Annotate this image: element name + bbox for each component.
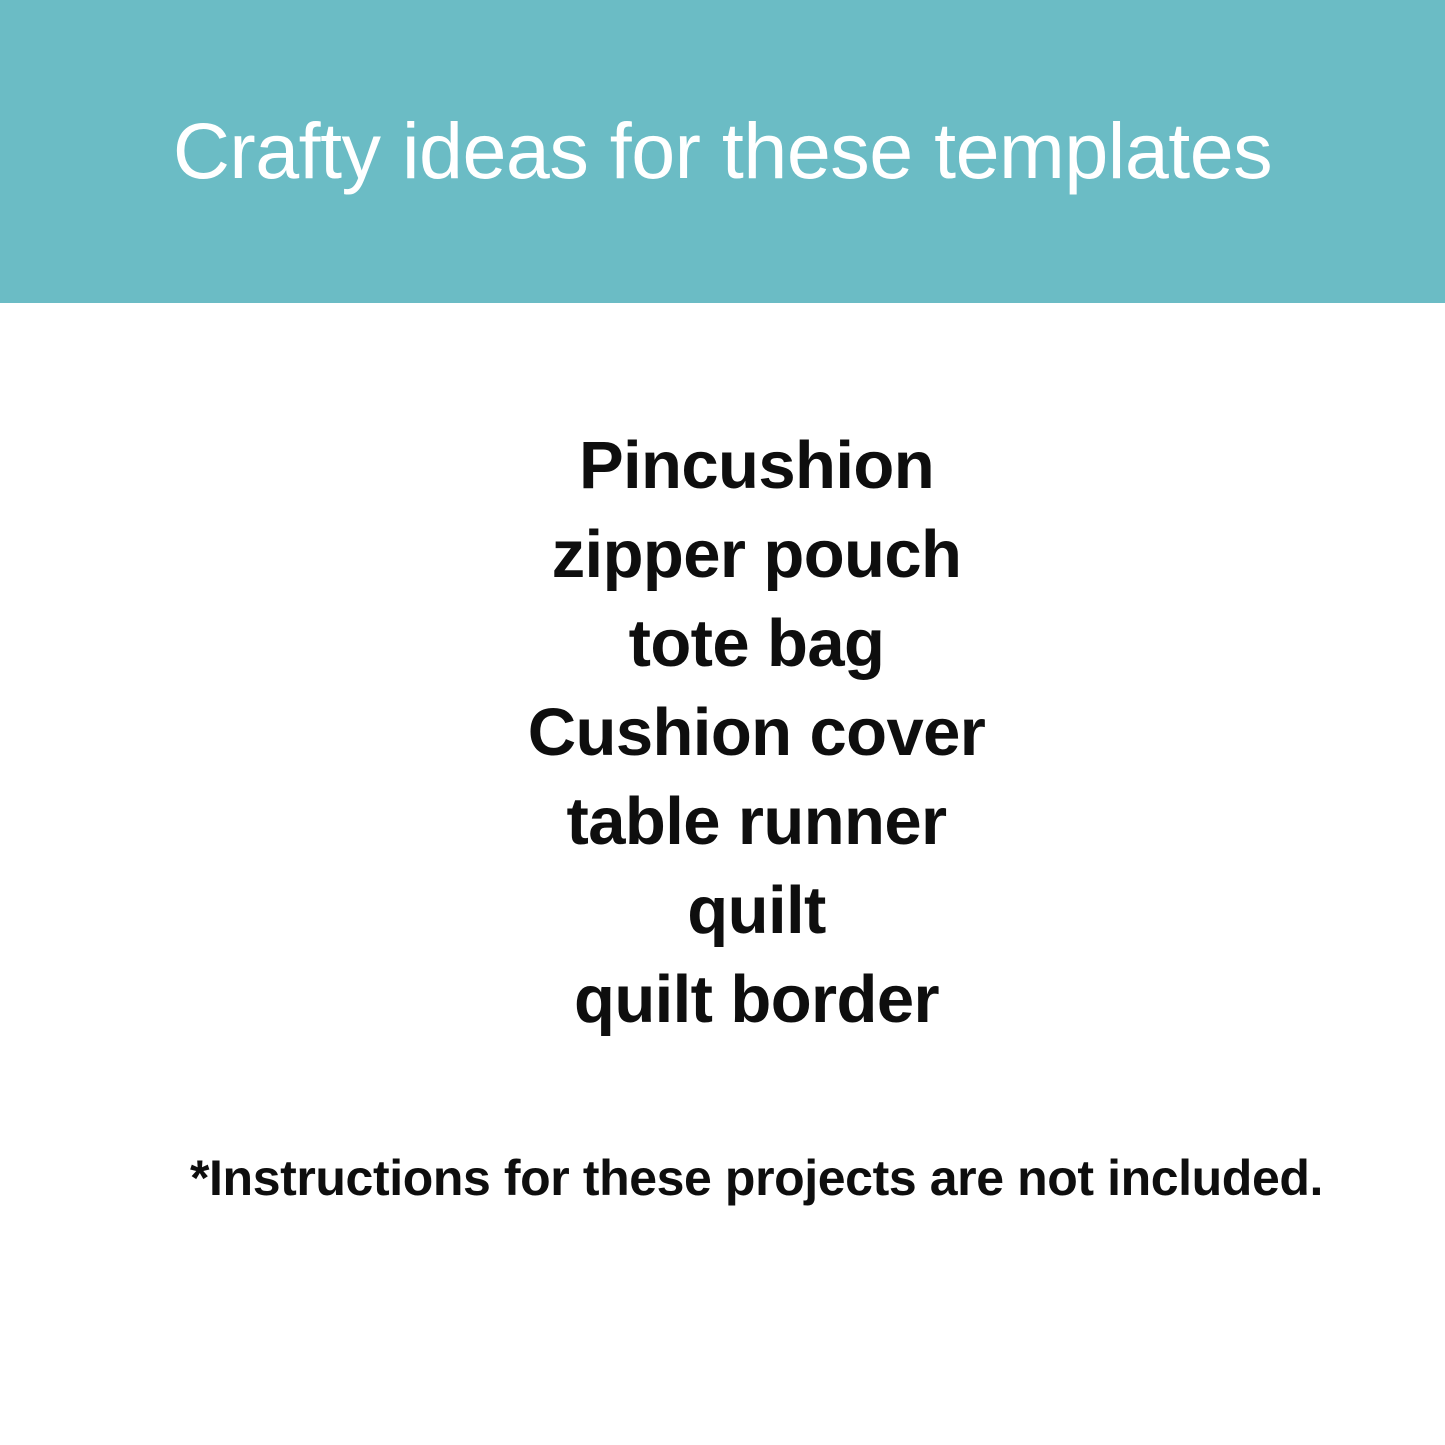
list-item: Cushion cover: [0, 688, 1445, 777]
header-banner: Crafty ideas for these templates: [0, 0, 1445, 303]
main-content: Pincushion zipper pouch tote bag Cushion…: [0, 303, 1445, 1445]
list-item: Pincushion: [0, 421, 1445, 510]
ideas-list: Pincushion zipper pouch tote bag Cushion…: [0, 421, 1445, 1044]
list-item: zipper pouch: [0, 510, 1445, 599]
page-root: Crafty ideas for these templates Pincush…: [0, 0, 1445, 1445]
list-item: quilt: [0, 866, 1445, 955]
list-item: tote bag: [0, 599, 1445, 688]
list-item: table runner: [0, 777, 1445, 866]
page-title: Crafty ideas for these templates: [173, 111, 1272, 190]
list-item: quilt border: [0, 955, 1445, 1044]
footnote-disclaimer: *Instructions for these projects are not…: [0, 1146, 1445, 1210]
